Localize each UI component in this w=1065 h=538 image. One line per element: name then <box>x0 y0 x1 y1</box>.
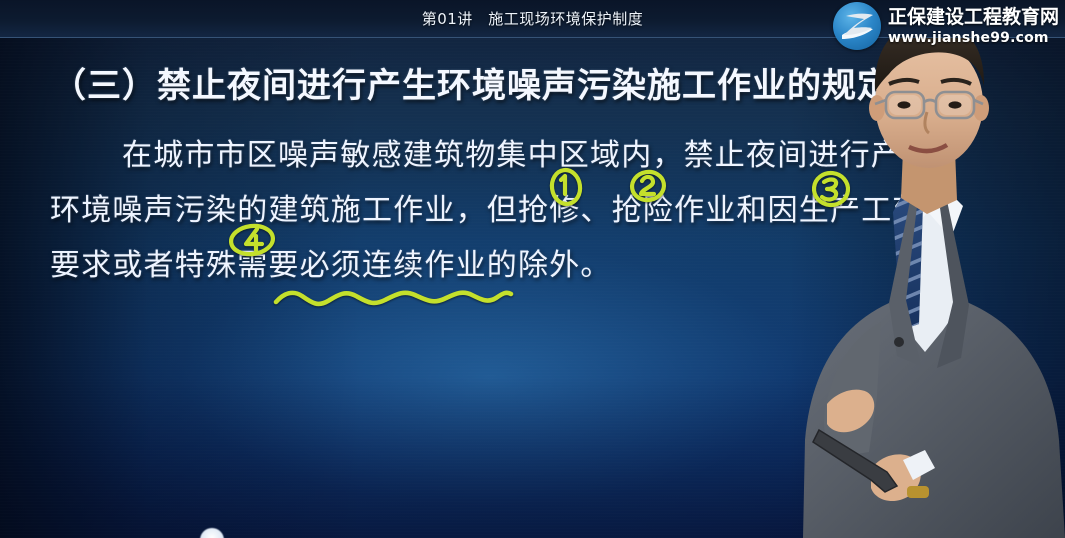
brand-name: 正保建设工程教育网 <box>888 8 1059 27</box>
video-lecture-frame: （三）禁止夜间进行产生环境噪声污染施工作业的规定 在城市市区噪声敏感建筑物集中区… <box>0 0 1065 538</box>
brand-website: www.jianshe99.com <box>888 31 1059 45</box>
presenter-ear-left <box>869 95 885 121</box>
presenter-video <box>785 0 1065 538</box>
presenter-eye-right <box>949 101 962 108</box>
presenter-ear-right <box>973 95 989 121</box>
slide-heading: （三）禁止夜间进行产生环境噪声污染施工作业的规定 <box>52 58 892 107</box>
brand-watermark[interactable]: 正保建设工程教育网 www.jianshe99.com <box>833 2 1059 50</box>
presenter-watch <box>907 486 929 498</box>
brand-text: 正保建设工程教育网 www.jianshe99.com <box>888 8 1059 45</box>
jianshe99-z-logo-icon <box>833 2 881 50</box>
presenter-lapel-mic <box>894 337 904 347</box>
presenter-eye-left <box>898 101 911 108</box>
